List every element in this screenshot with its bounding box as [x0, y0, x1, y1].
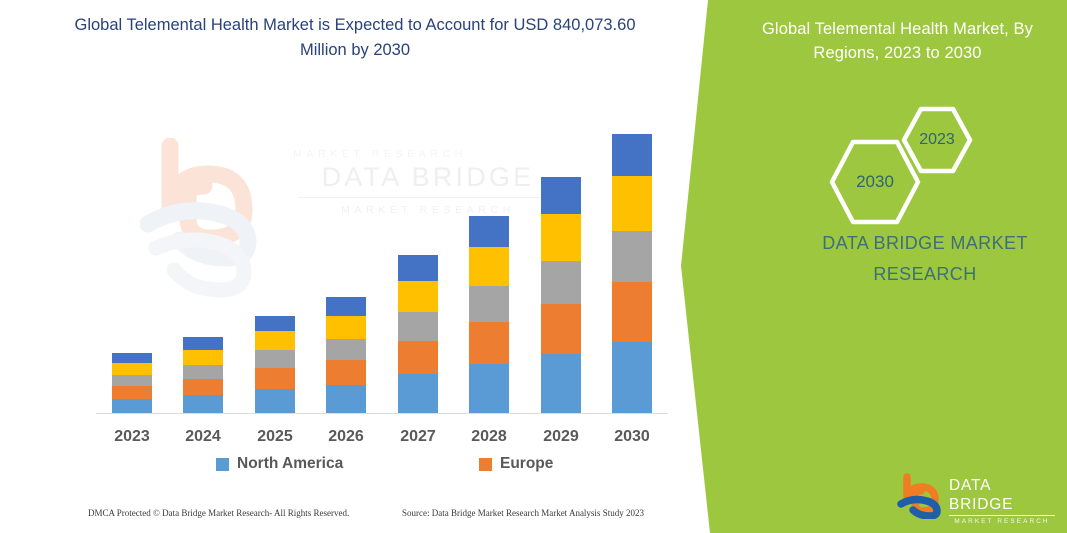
bar-2027 — [398, 255, 438, 414]
logo-title: DATA BRIDGE — [949, 476, 1055, 516]
bar-segment-2026-asia-pacific — [326, 339, 366, 360]
logo-subtitle: MARKET RESEARCH — [949, 516, 1055, 528]
x-axis-label-2026: 2026 — [310, 428, 382, 446]
legend-label: Europe — [500, 455, 553, 473]
bar-segment-2028-europe — [469, 322, 509, 364]
bar-2030 — [612, 134, 652, 414]
logo-text: DATA BRIDGE MARKET RESEARCH — [949, 476, 1055, 528]
bar-segment-2030-south-america — [612, 176, 652, 231]
chart-title: Global Telemental Health Market is Expec… — [60, 13, 650, 63]
bar-segment-2029-asia-pacific — [541, 261, 581, 304]
bar-segment-2025-asia-pacific — [255, 350, 295, 368]
bar-segment-2026-south-america — [326, 316, 366, 339]
infographic-canvas: Global Telemental Health Market, By Regi… — [0, 0, 1067, 533]
x-axis-label-2023: 2023 — [96, 428, 168, 446]
x-axis-label-2024: 2024 — [167, 428, 239, 446]
plot-area — [96, 128, 668, 414]
chart-footer: DMCA Protected © Data Bridge Market Rese… — [0, 506, 700, 526]
bar-segment-2026-europe — [326, 360, 366, 385]
legend-swatch-icon — [216, 458, 229, 471]
footer-source: Source: Data Bridge Market Research Mark… — [402, 506, 644, 520]
bar-segment-2027-asia-pacific — [398, 312, 438, 341]
bar-segment-2027-middle-east-and-africa — [398, 255, 438, 281]
bar-segment-2029-south-america — [541, 214, 581, 261]
x-axis-label-2028: 2028 — [453, 428, 525, 446]
bar-segment-2028-asia-pacific — [469, 286, 509, 322]
bar-2025 — [255, 316, 295, 414]
bar-segment-2030-north-america — [612, 342, 652, 414]
bar-segment-2030-asia-pacific — [612, 231, 652, 282]
legend-label: North America — [237, 455, 343, 473]
legend-item-north-america[interactable]: North America — [216, 455, 343, 473]
bar-segment-2030-europe — [612, 282, 652, 342]
bar-segment-2025-middle-east-and-africa — [255, 316, 295, 331]
bar-segment-2030-middle-east-and-africa — [612, 134, 652, 176]
bar-segment-2029-middle-east-and-africa — [541, 177, 581, 214]
bar-segment-2023-asia-pacific — [112, 375, 152, 386]
x-axis-label-2030: 2030 — [596, 428, 668, 446]
bar-segment-2024-middle-east-and-africa — [183, 337, 223, 350]
bar-segment-2028-north-america — [469, 364, 509, 414]
x-axis-label-2025: 2025 — [239, 428, 311, 446]
bar-segment-2024-europe — [183, 379, 223, 395]
x-axis-line — [96, 413, 668, 414]
bar-2024 — [183, 337, 223, 414]
legend-swatch-icon — [479, 458, 492, 471]
bar-segment-2026-middle-east-and-africa — [326, 297, 366, 316]
bar-segment-2024-asia-pacific — [183, 365, 223, 379]
legend-item-europe[interactable]: Europe — [479, 455, 553, 473]
logo-mark-icon — [897, 473, 943, 519]
bar-segment-2027-south-america — [398, 281, 438, 312]
hexagon-2023-label: 2023 — [901, 106, 973, 174]
bar-segment-2026-north-america — [326, 385, 366, 414]
brand-heading: DATA BRIDGE MARKET RESEARCH — [795, 228, 1055, 290]
bar-2023 — [112, 353, 152, 414]
x-axis-label-2029: 2029 — [525, 428, 597, 446]
bar-segment-2029-europe — [541, 304, 581, 354]
side-panel-title: Global Telemental Health Market, By Regi… — [740, 17, 1055, 65]
bar-segment-2028-middle-east-and-africa — [469, 216, 509, 247]
x-axis-label-2027: 2027 — [382, 428, 454, 446]
bar-segment-2025-north-america — [255, 389, 295, 414]
bar-2029 — [541, 177, 581, 414]
bar-segment-2027-north-america — [398, 374, 438, 414]
chart-legend: North AmericaEurope — [96, 455, 668, 481]
bar-segment-2029-north-america — [541, 354, 581, 414]
bar-segment-2023-europe — [112, 386, 152, 399]
data-bridge-logo: DATA BRIDGE MARKET RESEARCH — [897, 473, 1055, 519]
bar-segment-2024-north-america — [183, 395, 223, 414]
bar-2028 — [469, 216, 509, 414]
bar-2026 — [326, 297, 366, 414]
bar-segment-2027-europe — [398, 341, 438, 374]
bar-segment-2028-south-america — [469, 247, 509, 286]
bar-segment-2024-south-america — [183, 350, 223, 365]
hexagon-2023: 2023 — [901, 106, 973, 174]
bar-segment-2025-south-america — [255, 331, 295, 350]
footer-copyright: DMCA Protected © Data Bridge Market Rese… — [88, 506, 349, 520]
x-axis-labels: 20232024202520262027202820292030 — [96, 428, 668, 454]
bar-segment-2023-middle-east-and-africa — [112, 353, 152, 363]
bar-segment-2023-north-america — [112, 399, 152, 414]
bar-segment-2025-europe — [255, 368, 295, 389]
bar-segment-2023-south-america — [112, 363, 152, 375]
chart-panel: Global Telemental Health Market is Expec… — [0, 0, 700, 533]
